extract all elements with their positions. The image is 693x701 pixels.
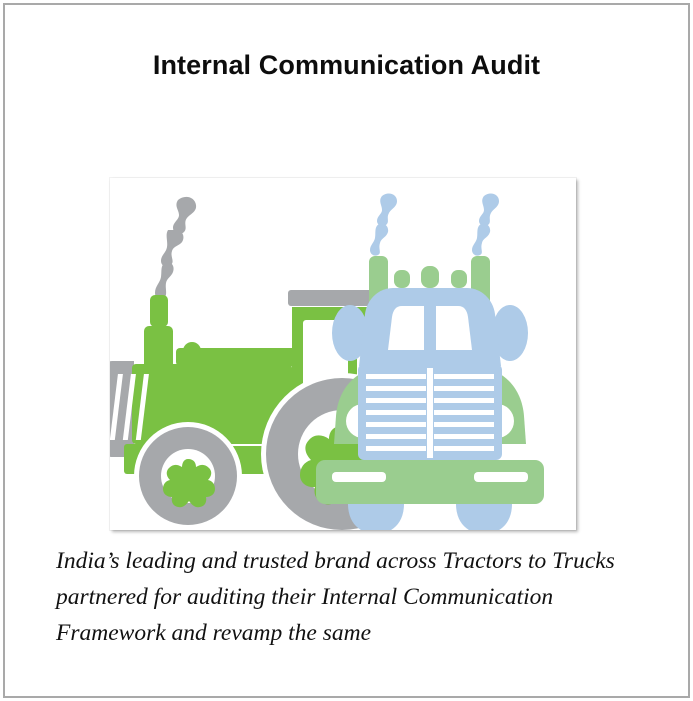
truck-bumper-slot-left: [332, 472, 386, 482]
truck-marker-lights: [394, 266, 467, 288]
truck-wheel-right: [456, 504, 512, 530]
tractor-smoke-icon: [155, 197, 196, 299]
truck-windshield-left: [388, 306, 424, 350]
truck-wheel-left: [348, 504, 404, 530]
tractor-exhaust-tip: [150, 295, 168, 327]
slide-canvas: Internal Communication Audit: [0, 0, 693, 701]
page-title: Internal Communication Audit: [0, 50, 693, 81]
truck-bumper-slot-right: [474, 472, 528, 482]
image-panel: [110, 178, 576, 530]
vehicles-illustration: [110, 178, 576, 530]
caption-text: India’s leading and trusted brand across…: [56, 543, 656, 651]
tractor-front-wheel: [134, 422, 242, 530]
tractor-bonnet-bar: [176, 348, 296, 366]
truck-cab-shell: [359, 288, 501, 366]
truck-windshield-right: [436, 306, 472, 350]
truck-smoke-icon: [370, 194, 499, 256]
